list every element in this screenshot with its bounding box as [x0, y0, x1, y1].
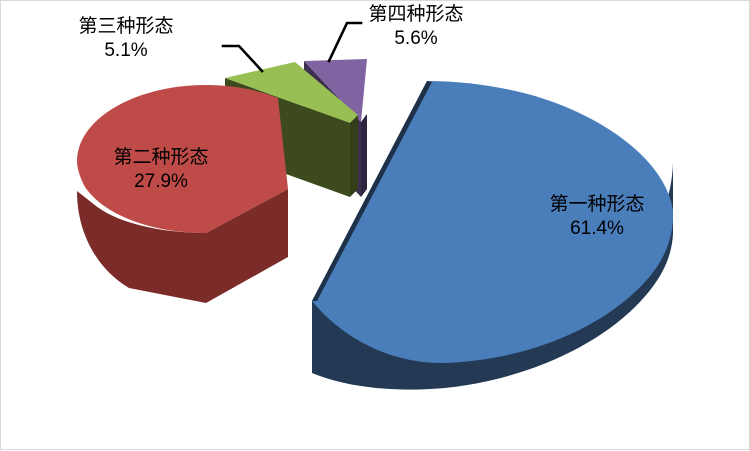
pie-chart-container: 第一种形态 61.4% 第二种形态 27.9% 第三种形态 5.1% 第四种形态…	[0, 0, 750, 450]
pie-label-first-name: 第一种形态	[507, 193, 687, 217]
pie-label-second-percent: 27.9%	[71, 170, 251, 194]
pie-slice-third-side-right	[350, 115, 358, 197]
leader-line-third	[223, 46, 262, 71]
pie-label-fourth-name: 第四种形态	[301, 3, 531, 27]
pie-label-second-name: 第二种形态	[71, 146, 251, 170]
pie-label-third: 第三种形态 5.1%	[31, 15, 221, 64]
pie-label-first-percent: 61.4%	[507, 217, 687, 241]
pie-label-fourth-percent: 5.6%	[301, 27, 531, 51]
pie-label-fourth: 第四种形态 5.6%	[301, 3, 531, 52]
pie-label-third-percent: 5.1%	[31, 39, 221, 63]
pie-label-second: 第二种形态 27.9%	[71, 146, 251, 195]
pie-label-third-name: 第三种形态	[31, 15, 221, 39]
pie-slice-fourth-side-right	[361, 114, 367, 197]
pie-label-first: 第一种形态 61.4%	[507, 193, 687, 242]
